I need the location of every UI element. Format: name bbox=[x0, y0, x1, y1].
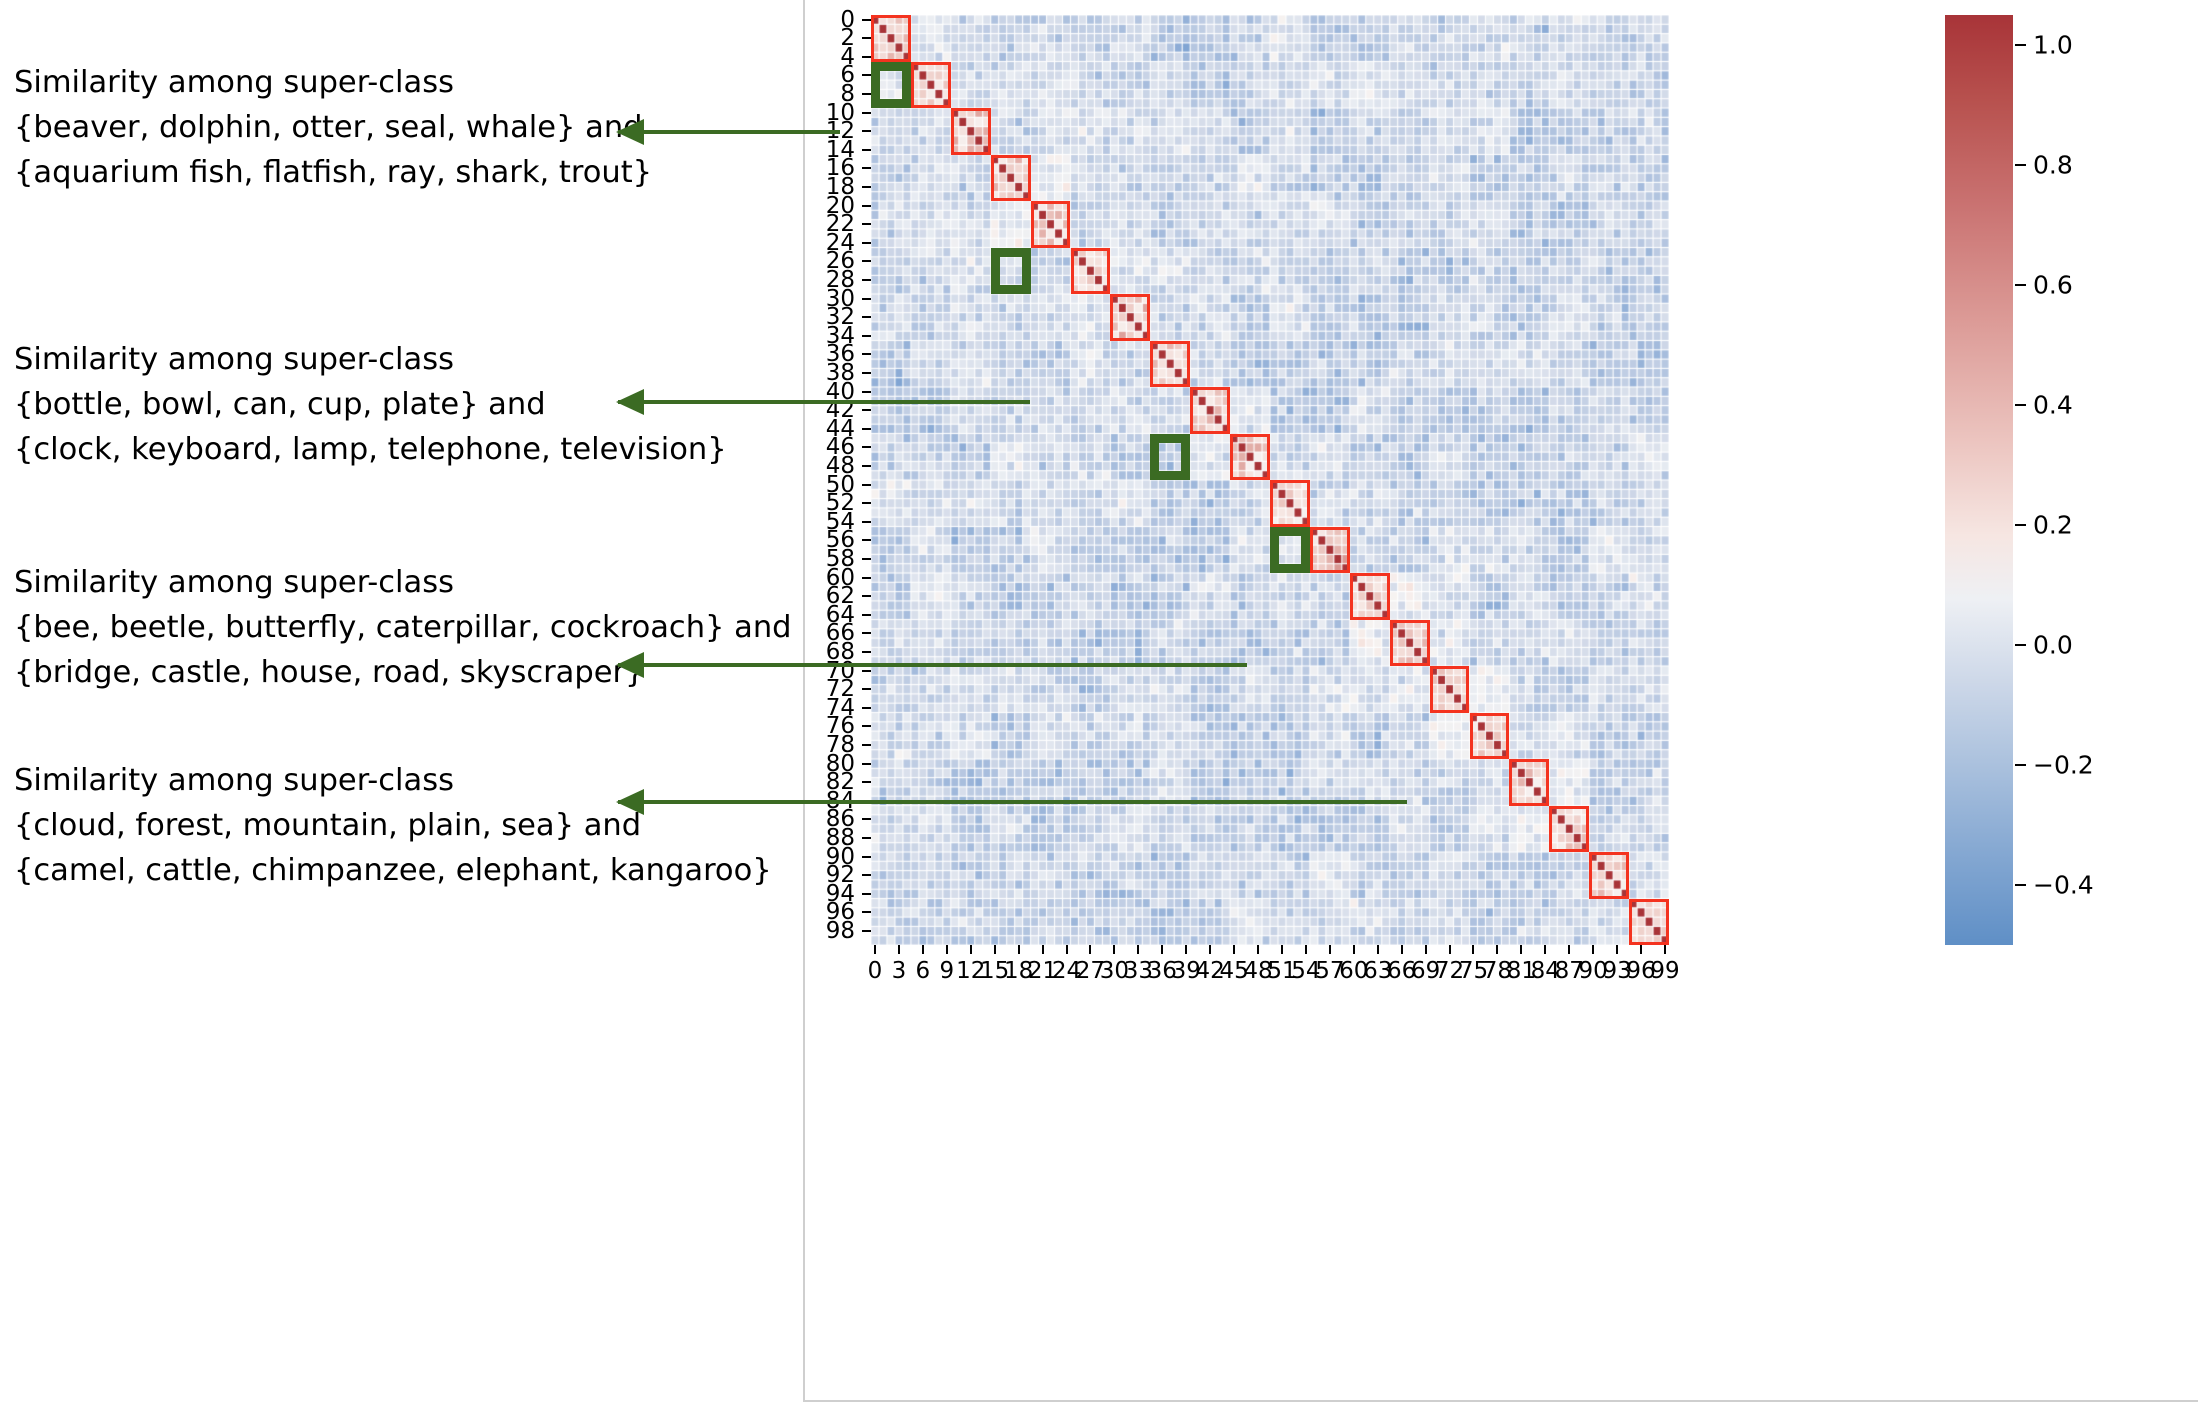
colorbar-tick-mark bbox=[2015, 644, 2026, 646]
colorbar-tick-mark bbox=[2015, 284, 2026, 286]
x-tick-mark bbox=[1425, 945, 1427, 954]
x-tick-label: 6 bbox=[916, 958, 931, 984]
arrow-shaft bbox=[618, 800, 1407, 804]
y-tick-mark bbox=[862, 223, 871, 225]
colorbar-tick-mark bbox=[2015, 164, 2026, 166]
x-tick-mark bbox=[1233, 945, 1235, 954]
colorbar-tick-mark bbox=[2015, 524, 2026, 526]
highlight-box-2 bbox=[1150, 434, 1190, 481]
x-tick-mark bbox=[1353, 945, 1355, 954]
colorbar-tick-label: 0.2 bbox=[2033, 511, 2073, 540]
x-tick-mark bbox=[874, 945, 876, 954]
matplotlib-figure: 0246810121416182022242628303234363840424… bbox=[803, 0, 2198, 1402]
x-tick-mark bbox=[946, 945, 948, 954]
annotation-natural-scenes-large-omnivores: Similarity among super-class{cloud, fore… bbox=[14, 758, 804, 893]
x-tick-label: 99 bbox=[1650, 958, 1679, 984]
annotation-line: Similarity among super-class bbox=[14, 560, 804, 605]
y-tick-mark bbox=[862, 837, 871, 839]
superclass-diagonal-box bbox=[1509, 759, 1549, 806]
arrow-shaft bbox=[618, 130, 840, 134]
x-tick-mark bbox=[1377, 945, 1379, 954]
x-tick-mark bbox=[1520, 945, 1522, 954]
x-tick-mark bbox=[1089, 945, 1091, 954]
y-tick-mark bbox=[862, 707, 871, 709]
annotation-line: {aquarium fish, flatfish, ray, shark, tr… bbox=[14, 150, 804, 195]
y-tick-mark bbox=[862, 688, 871, 690]
arrow-head-icon bbox=[616, 389, 644, 415]
superclass-diagonal-box bbox=[1470, 713, 1510, 760]
superclass-diagonal-box bbox=[951, 108, 991, 155]
colorbar-tick-mark bbox=[2015, 404, 2026, 406]
annotation-line: Similarity among super-class bbox=[14, 60, 804, 105]
y-tick-mark bbox=[862, 595, 871, 597]
x-tick-label: 0 bbox=[868, 958, 883, 984]
annotation-line: {beaver, dolphin, otter, seal, whale} an… bbox=[14, 105, 804, 150]
y-tick-mark bbox=[862, 149, 871, 151]
superclass-diagonal-box bbox=[911, 62, 951, 109]
y-tick-mark bbox=[862, 279, 871, 281]
colorbar-tick-label: 0.4 bbox=[2033, 391, 2073, 420]
x-tick-mark bbox=[1496, 945, 1498, 954]
y-tick-mark bbox=[862, 353, 871, 355]
x-tick-mark bbox=[1401, 945, 1403, 954]
x-tick-mark bbox=[1568, 945, 1570, 954]
x-tick-label: 3 bbox=[892, 958, 907, 984]
annotation-line: {bee, beetle, butterfly, caterpillar, co… bbox=[14, 605, 804, 650]
x-tick-mark bbox=[970, 945, 972, 954]
superclass-diagonal-box bbox=[1190, 387, 1230, 434]
y-tick-mark bbox=[862, 37, 871, 39]
colorbar-tick-mark bbox=[2015, 764, 2026, 766]
colorbar-tick-label: 0.0 bbox=[2033, 631, 2073, 660]
superclass-diagonal-box bbox=[991, 155, 1031, 202]
y-tick-mark bbox=[862, 465, 871, 467]
superclass-diagonal-box bbox=[1310, 527, 1350, 574]
y-tick-mark bbox=[862, 428, 871, 430]
x-tick-mark bbox=[1449, 945, 1451, 954]
colorbar-tick-label: −0.2 bbox=[2033, 751, 2094, 780]
y-tick-mark bbox=[862, 577, 871, 579]
y-tick-mark bbox=[862, 74, 871, 76]
y-tick-mark bbox=[862, 56, 871, 58]
y-tick-mark bbox=[862, 539, 871, 541]
annotation-line: Similarity among super-class bbox=[14, 758, 804, 803]
y-tick-mark bbox=[862, 558, 871, 560]
y-tick-mark bbox=[862, 818, 871, 820]
x-tick-mark bbox=[1329, 945, 1331, 954]
x-tick-mark bbox=[1544, 945, 1546, 954]
superclass-diagonal-box bbox=[1150, 341, 1190, 388]
y-tick-mark bbox=[862, 521, 871, 523]
y-tick-mark bbox=[862, 632, 871, 634]
y-tick-mark bbox=[862, 856, 871, 858]
y-tick-mark bbox=[862, 316, 871, 318]
similarity-heatmap[interactable] bbox=[871, 15, 1669, 945]
heatmap-overlay bbox=[871, 15, 1669, 945]
superclass-diagonal-box bbox=[1031, 201, 1071, 248]
x-tick-mark bbox=[1161, 945, 1163, 954]
y-tick-mark bbox=[862, 167, 871, 169]
annotation-line: {cloud, forest, mountain, plain, sea} an… bbox=[14, 803, 804, 848]
x-tick-label: 9 bbox=[939, 958, 954, 984]
figure-root: Similarity among super-class{beaver, dol… bbox=[0, 0, 2198, 1402]
y-tick-mark bbox=[862, 130, 871, 132]
arrow-shaft bbox=[618, 400, 1030, 404]
annotation-line: {clock, keyboard, lamp, telephone, telev… bbox=[14, 427, 804, 472]
x-tick-mark bbox=[898, 945, 900, 954]
colorbar-tick-mark bbox=[2015, 44, 2026, 46]
x-tick-mark bbox=[922, 945, 924, 954]
y-tick-mark bbox=[862, 205, 871, 207]
superclass-diagonal-box bbox=[1629, 899, 1669, 946]
y-tick-mark bbox=[862, 725, 871, 727]
y-tick-mark bbox=[862, 112, 871, 114]
y-tick-label: 98 bbox=[826, 918, 855, 944]
y-tick-mark bbox=[862, 372, 871, 374]
y-tick-mark bbox=[862, 874, 871, 876]
x-tick-mark bbox=[1018, 945, 1020, 954]
superclass-diagonal-box bbox=[1350, 573, 1390, 620]
annotation-aquatic-mammals-fish: Similarity among super-class{beaver, dol… bbox=[14, 60, 804, 195]
y-tick-mark bbox=[862, 484, 871, 486]
superclass-diagonal-box bbox=[1230, 434, 1270, 481]
highlight-box-1 bbox=[991, 248, 1031, 295]
superclass-diagonal-box bbox=[1110, 294, 1150, 341]
y-tick-mark bbox=[862, 391, 871, 393]
x-tick-mark bbox=[994, 945, 996, 954]
y-tick-mark bbox=[862, 781, 871, 783]
y-tick-mark bbox=[862, 651, 871, 653]
x-tick-mark bbox=[1640, 945, 1642, 954]
y-tick-mark bbox=[862, 670, 871, 672]
annotation-line: {camel, cattle, chimpanzee, elephant, ka… bbox=[14, 848, 804, 893]
y-tick-mark bbox=[862, 186, 871, 188]
colorbar-tick-label: −0.4 bbox=[2033, 871, 2094, 900]
arrow-head-icon bbox=[616, 789, 644, 815]
arrow-shaft bbox=[618, 663, 1247, 667]
y-tick-mark bbox=[862, 930, 871, 932]
x-tick-mark bbox=[1257, 945, 1259, 954]
annotation-insects-manmade-outdoor: Similarity among super-class{bee, beetle… bbox=[14, 560, 804, 695]
highlight-box-3 bbox=[1270, 527, 1310, 574]
annotation-line: {bottle, bowl, can, cup, plate} and bbox=[14, 382, 804, 427]
y-tick-mark bbox=[862, 911, 871, 913]
y-tick-mark bbox=[862, 242, 871, 244]
y-tick-mark bbox=[862, 298, 871, 300]
y-tick-mark bbox=[862, 335, 871, 337]
highlight-box-0 bbox=[871, 62, 911, 109]
arrow-head-icon bbox=[616, 119, 644, 145]
x-tick-mark bbox=[1066, 945, 1068, 954]
y-tick-mark bbox=[862, 446, 871, 448]
colorbar-tick-label: 0.8 bbox=[2033, 151, 2073, 180]
y-tick-mark bbox=[862, 763, 871, 765]
x-tick-mark bbox=[1137, 945, 1139, 954]
y-tick-mark bbox=[862, 19, 871, 21]
superclass-diagonal-box bbox=[1589, 852, 1629, 899]
arrow-head-icon bbox=[616, 652, 644, 678]
colorbar-tick-label: 1.0 bbox=[2033, 31, 2073, 60]
x-tick-mark bbox=[1113, 945, 1115, 954]
x-tick-mark bbox=[1042, 945, 1044, 954]
x-tick-mark bbox=[1305, 945, 1307, 954]
superclass-diagonal-box bbox=[1549, 806, 1589, 853]
x-tick-mark bbox=[1209, 945, 1211, 954]
x-tick-mark bbox=[1664, 945, 1666, 954]
annotation-line: {bridge, castle, house, road, skyscraper… bbox=[14, 650, 804, 695]
superclass-diagonal-box bbox=[1390, 620, 1430, 667]
x-tick-mark bbox=[1185, 945, 1187, 954]
superclass-diagonal-box bbox=[1430, 666, 1470, 713]
superclass-diagonal-box bbox=[871, 15, 911, 62]
colorbar-gradient bbox=[1945, 15, 2013, 945]
annotation-containers-devices: Similarity among super-class{bottle, bow… bbox=[14, 337, 804, 472]
x-tick-mark bbox=[1616, 945, 1618, 954]
x-tick-mark bbox=[1592, 945, 1594, 954]
y-tick-mark bbox=[862, 93, 871, 95]
superclass-diagonal-box bbox=[1071, 248, 1111, 295]
x-tick-mark bbox=[1472, 945, 1474, 954]
y-tick-mark bbox=[862, 614, 871, 616]
y-tick-mark bbox=[862, 893, 871, 895]
colorbar-tick-label: 0.6 bbox=[2033, 271, 2073, 300]
y-tick-mark bbox=[862, 260, 871, 262]
annotation-line: Similarity among super-class bbox=[14, 337, 804, 382]
y-tick-mark bbox=[862, 409, 871, 411]
x-tick-mark bbox=[1281, 945, 1283, 954]
superclass-diagonal-box bbox=[1270, 480, 1310, 527]
colorbar-tick-mark bbox=[2015, 884, 2026, 886]
y-tick-mark bbox=[862, 502, 871, 504]
y-tick-mark bbox=[862, 744, 871, 746]
annotation-panel: Similarity among super-class{beaver, dol… bbox=[0, 0, 812, 1402]
